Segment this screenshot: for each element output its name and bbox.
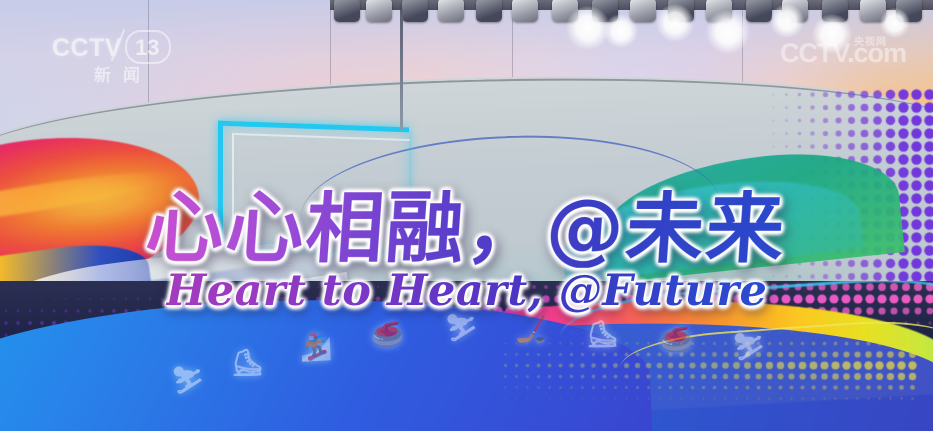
watermark-text-cn: 央视网	[854, 38, 887, 48]
lamp-glow	[706, 10, 750, 54]
sport-pictogram-icon: 🥌	[371, 322, 405, 350]
studio-lamp-icon	[512, 0, 538, 22]
studio-lamp-icon	[366, 0, 392, 22]
studio-lamp-icon	[476, 0, 502, 22]
channel-number: 13	[127, 34, 167, 62]
lamp-glow	[604, 14, 638, 48]
sport-pictogram-icon: 🥌	[659, 327, 693, 355]
studio-lamp-icon	[334, 0, 360, 22]
sport-pictogram-icon: ⛷	[732, 333, 766, 361]
sport-pictogram-icon: ⛷	[444, 314, 478, 342]
sport-pictogram-icon: ⛸	[230, 350, 264, 378]
cyan-screen-inner-edge	[232, 133, 410, 251]
channel-name-cn: 新闻	[52, 68, 182, 85]
broadcast-frame: CCTV 13 新闻 CCTV.com 央视网 ⛷ ⛸ 🏂 🥌 ⛷	[0, 0, 933, 431]
sport-pictogram-icon: ⛷	[171, 367, 205, 395]
studio-lamp-icon	[402, 0, 428, 22]
studio-lamp-icon	[746, 0, 772, 22]
sport-pictogram-icon: ⛸	[585, 321, 619, 349]
lamp-glow	[770, 4, 804, 38]
cctv-13-news-bug: CCTV 13 新闻	[52, 34, 182, 96]
studio-lamp-icon	[438, 0, 464, 22]
lamp-glow	[656, 4, 694, 42]
lamp-glow	[880, 8, 910, 38]
watermark-text: CCTV.com	[780, 38, 906, 68]
sport-pictogram-icon: 🏒	[515, 317, 549, 345]
cctv-com-watermark: CCTV.com 央视网	[780, 40, 920, 80]
studio-lamp-icon	[630, 0, 656, 22]
lighting-rig-pole	[400, 10, 403, 130]
sport-pictogram-icon: 🏂	[299, 334, 333, 362]
